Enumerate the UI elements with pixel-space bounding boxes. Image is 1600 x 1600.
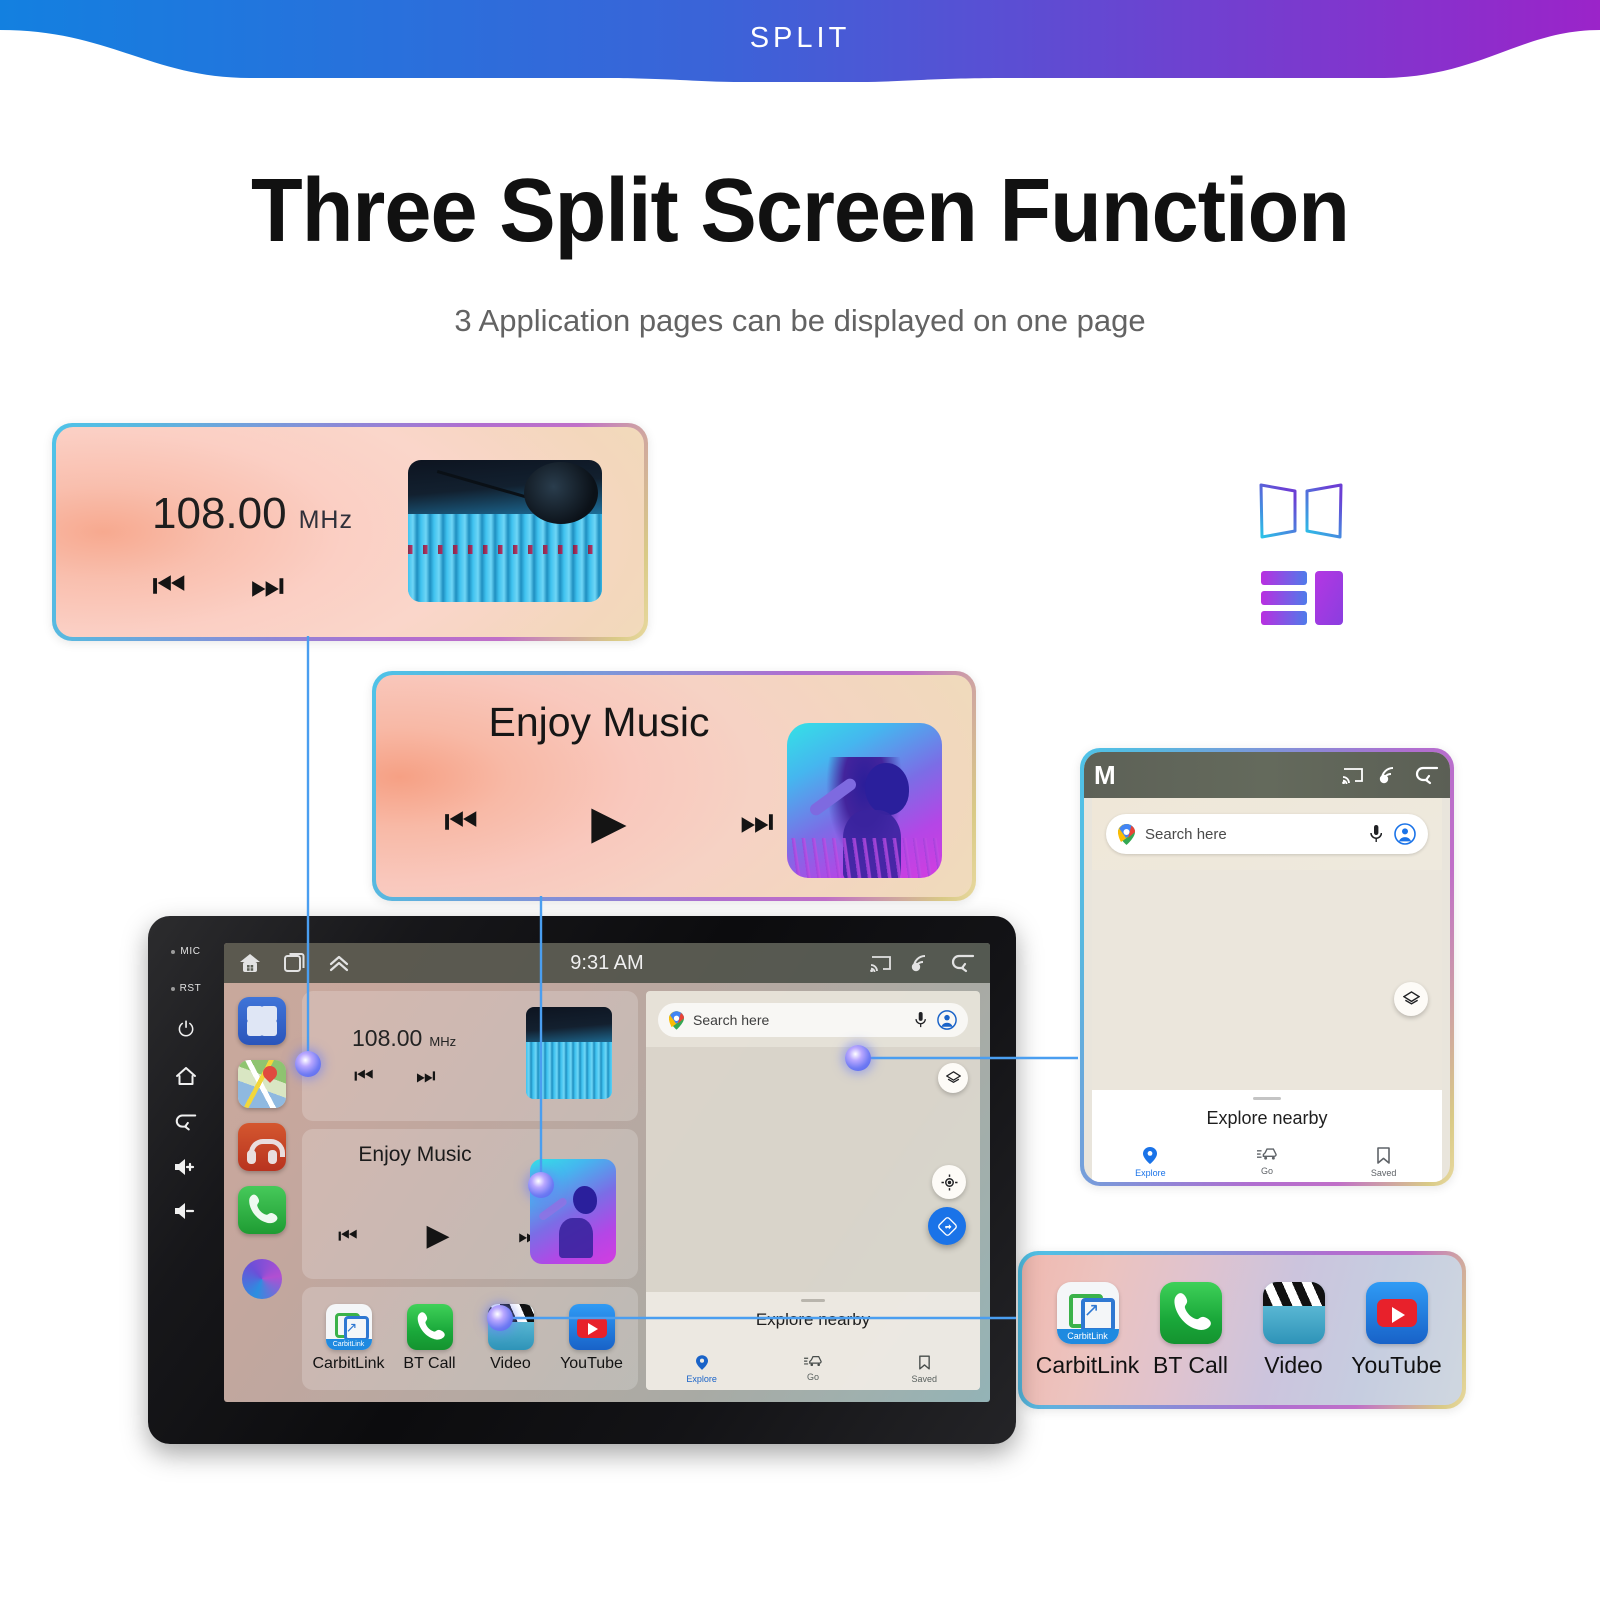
radio-frequency-value: 108.00 bbox=[152, 489, 287, 538]
app-label: Video bbox=[490, 1355, 531, 1373]
bookmark-icon bbox=[919, 1355, 930, 1370]
maps-card-title-fragment: M bbox=[1094, 760, 1116, 791]
radio-transport-controls: ⏮ ⏭ bbox=[152, 567, 284, 605]
car-icon bbox=[804, 1355, 822, 1368]
split-icons-svg bbox=[1255, 475, 1375, 635]
cast-icon[interactable] bbox=[870, 954, 892, 972]
wifi-touch-icon[interactable] bbox=[1378, 765, 1400, 785]
screen-maps-canvas[interactable] bbox=[646, 1047, 980, 1292]
bookmark-icon bbox=[1377, 1147, 1390, 1164]
maps-bottom-tabs: Explore Go Saved bbox=[1092, 1147, 1442, 1178]
chevrons-up-icon[interactable] bbox=[328, 952, 350, 974]
app-label: Video bbox=[1264, 1352, 1322, 1379]
screen-left-column: 108.00MHz ⏮ ⏭ Enjoy Music ⏮ ▶ ⏭ bbox=[302, 991, 638, 1390]
maps-tab-label: Go bbox=[1209, 1166, 1326, 1176]
clapperboard-icon bbox=[1263, 1282, 1325, 1344]
screen-music-panel[interactable]: Enjoy Music ⏮ ▶ ⏭ bbox=[302, 1129, 638, 1279]
app-bt-call[interactable]: BT Call bbox=[1145, 1282, 1237, 1379]
play-icon[interactable]: ▶ bbox=[591, 803, 626, 841]
maps-tab-go[interactable]: Go bbox=[1209, 1147, 1326, 1178]
account-avatar-icon[interactable] bbox=[1394, 823, 1416, 845]
banner-label: SPLIT bbox=[0, 22, 1600, 55]
screen-explore-nearby-title: Explore nearby bbox=[646, 1310, 980, 1330]
volume-up-icon[interactable] bbox=[173, 1158, 199, 1176]
screen-radio-unit: MHz bbox=[429, 1034, 456, 1049]
apps-callout-card: ↗ CarbitLink CarbitLink BT Call Video Yo… bbox=[1018, 1251, 1466, 1409]
maps-tab-explore[interactable]: Explore bbox=[646, 1355, 757, 1384]
pin-icon bbox=[1143, 1147, 1157, 1164]
screen-maps-search-placeholder: Search here bbox=[693, 1012, 769, 1028]
start-navigation-button[interactable] bbox=[928, 1207, 966, 1245]
next-track-icon[interactable]: ⏭ bbox=[416, 1065, 436, 1087]
screen-radio-value: 108.00 bbox=[352, 1025, 422, 1051]
radio-callout-card: 108.00MHz ⏮ ⏭ bbox=[52, 423, 648, 641]
app-carbitlink[interactable]: ↗ CarbitLink CarbitLink bbox=[314, 1304, 384, 1373]
home-icon[interactable] bbox=[238, 952, 262, 974]
car-head-unit: MIC RST ⏻ 9:31 AM bbox=[148, 916, 1016, 1444]
account-avatar-icon[interactable] bbox=[937, 1010, 957, 1030]
youtube-icon bbox=[1366, 1282, 1428, 1344]
screen-radio-panel[interactable]: 108.00MHz ⏮ ⏭ bbox=[302, 991, 638, 1121]
carbitlink-badge: CarbitLink bbox=[326, 1339, 372, 1350]
back-icon[interactable] bbox=[1414, 765, 1440, 785]
maps-tab-label: Saved bbox=[1325, 1168, 1442, 1178]
my-location-button[interactable] bbox=[932, 1165, 966, 1199]
sheet-grip[interactable] bbox=[801, 1299, 825, 1302]
android-status-bar: 9:31 AM bbox=[224, 943, 990, 983]
power-icon[interactable]: ⏻ bbox=[178, 1020, 194, 1040]
two-page-split-icon bbox=[1261, 485, 1341, 537]
next-track-icon[interactable]: ⏭ bbox=[740, 803, 774, 841]
apps-grid-icon[interactable] bbox=[238, 997, 286, 1045]
microphone-icon[interactable] bbox=[915, 1012, 926, 1028]
carbitlink-icon: ↗ CarbitLink bbox=[326, 1304, 372, 1350]
screen-maps-search-bar[interactable]: Search here bbox=[658, 1003, 968, 1037]
app-carbitlink[interactable]: ↗ CarbitLink CarbitLink bbox=[1042, 1282, 1134, 1379]
radio-frequency-unit: MHz bbox=[299, 506, 353, 534]
music-transport-controls: ⏮ ▶ ⏭ bbox=[444, 803, 774, 841]
pin-icon bbox=[696, 1355, 708, 1370]
maps-search-bar[interactable]: Search here bbox=[1106, 814, 1428, 854]
assistant-ring-icon[interactable] bbox=[242, 1259, 282, 1299]
handset-glyph bbox=[407, 1304, 453, 1350]
phone-icon[interactable] bbox=[238, 1186, 286, 1234]
home-icon[interactable] bbox=[175, 1066, 197, 1086]
app-label: BT Call bbox=[1153, 1352, 1228, 1379]
recents-icon[interactable] bbox=[284, 952, 306, 974]
microphone-icon[interactable] bbox=[1370, 825, 1382, 843]
callout-dot-maps bbox=[845, 1045, 871, 1071]
top-banner: SPLIT bbox=[0, 0, 1600, 82]
play-icon[interactable]: ▶ bbox=[426, 1221, 449, 1251]
navigation-arrow-icon bbox=[938, 1217, 957, 1236]
handset-glyph bbox=[238, 1186, 286, 1234]
app-label: CarbitLink bbox=[1036, 1352, 1140, 1379]
app-youtube[interactable]: YouTube bbox=[1351, 1282, 1443, 1379]
callout-dot-music bbox=[528, 1172, 554, 1198]
cast-icon[interactable] bbox=[1342, 766, 1364, 784]
music-icon[interactable] bbox=[238, 1123, 286, 1171]
layers-icon bbox=[946, 1071, 961, 1086]
screen-maps-bottom-sheet: Explore nearby Explore Go Saved bbox=[646, 1292, 980, 1390]
prev-track-icon[interactable]: ⏮ bbox=[354, 1065, 374, 1087]
app-youtube[interactable]: YouTube bbox=[557, 1304, 627, 1373]
callout-dot-radio bbox=[295, 1051, 321, 1077]
app-label: BT Call bbox=[403, 1355, 455, 1373]
maps-icon[interactable] bbox=[238, 1060, 286, 1108]
maps-tab-saved[interactable]: Saved bbox=[869, 1355, 980, 1384]
music-artwork bbox=[787, 723, 942, 878]
callout-dot-apps bbox=[487, 1305, 513, 1331]
carbitlink-icon: ↗ CarbitLink bbox=[1057, 1282, 1119, 1344]
music-callout-card: Enjoy Music ⏮ ▶ ⏭ bbox=[372, 671, 976, 901]
next-track-icon[interactable]: ⏭ bbox=[250, 567, 284, 605]
app-bt-call[interactable]: BT Call bbox=[395, 1304, 465, 1373]
prev-track-icon[interactable]: ⏮ bbox=[444, 803, 478, 841]
maps-tab-label: Go bbox=[757, 1372, 868, 1382]
app-label: CarbitLink bbox=[312, 1355, 384, 1373]
maps-tab-saved[interactable]: Saved bbox=[1325, 1147, 1442, 1178]
maps-tab-explore[interactable]: Explore bbox=[1092, 1147, 1209, 1178]
map-layers-button[interactable] bbox=[1394, 982, 1428, 1016]
maps-bottom-sheet: Explore nearby Explore Go Saved bbox=[1092, 1090, 1442, 1182]
maps-tab-go[interactable]: Go bbox=[757, 1355, 868, 1384]
map-layers-button[interactable] bbox=[938, 1063, 968, 1093]
phone-icon bbox=[407, 1304, 453, 1350]
screen-maps-bottom-tabs: Explore Go Saved bbox=[646, 1355, 980, 1384]
prev-track-icon[interactable]: ⏮ bbox=[152, 567, 186, 605]
maps-canvas[interactable] bbox=[1092, 870, 1442, 1090]
explore-nearby-title: Explore nearby bbox=[1092, 1108, 1442, 1129]
radio-frequency-row: 108.00MHz bbox=[152, 489, 353, 539]
back-icon[interactable] bbox=[950, 953, 976, 973]
maps-tab-label: Explore bbox=[646, 1374, 757, 1384]
layers-icon bbox=[1403, 991, 1420, 1008]
phone-icon bbox=[1160, 1282, 1222, 1344]
screen-radio-frequency: 108.00MHz bbox=[352, 1025, 456, 1052]
volume-down-icon[interactable] bbox=[173, 1202, 199, 1220]
wifi-touch-icon[interactable] bbox=[910, 953, 932, 973]
page-subtitle: 3 Application pages can be displayed on … bbox=[0, 303, 1600, 339]
app-video[interactable]: Video bbox=[1248, 1282, 1340, 1379]
prev-track-icon[interactable]: ⏮ bbox=[338, 1225, 358, 1247]
locate-icon bbox=[941, 1174, 958, 1191]
google-maps-pin-icon bbox=[1118, 824, 1135, 845]
three-pane-layout-icon bbox=[1261, 571, 1343, 625]
back-icon[interactable] bbox=[174, 1112, 198, 1132]
maps-card-topbar: M bbox=[1084, 752, 1450, 798]
sheet-grip[interactable] bbox=[1253, 1097, 1281, 1100]
maps-tab-label: Saved bbox=[869, 1374, 980, 1384]
youtube-icon bbox=[569, 1304, 615, 1350]
split-mode-icons bbox=[1255, 475, 1375, 635]
screen-maps-panel[interactable]: Search here bbox=[646, 991, 980, 1390]
screen-radio-artwork bbox=[526, 1007, 612, 1099]
head-unit-screen: 9:31 AM bbox=[224, 943, 990, 1402]
screen-apps-panel: ↗ CarbitLink CarbitLink BT Call Video bbox=[302, 1287, 638, 1390]
hardkey-rst[interactable]: RST bbox=[171, 983, 202, 994]
car-icon bbox=[1257, 1147, 1277, 1162]
handset-glyph bbox=[1160, 1282, 1222, 1344]
maps-search-placeholder: Search here bbox=[1145, 826, 1227, 843]
hardkey-mic[interactable]: MIC bbox=[171, 946, 200, 957]
app-label: YouTube bbox=[560, 1355, 623, 1373]
screen-dock bbox=[230, 991, 294, 1390]
carbitlink-badge: CarbitLink bbox=[1057, 1329, 1119, 1344]
head-unit-hard-keys: MIC RST ⏻ bbox=[156, 926, 216, 1434]
maps-callout-card: M Search here bbox=[1080, 748, 1454, 1186]
google-maps-pin-icon bbox=[669, 1011, 684, 1030]
app-label: YouTube bbox=[1351, 1352, 1441, 1379]
hardkey-label: RST bbox=[180, 983, 202, 994]
radio-artwork bbox=[408, 460, 602, 602]
maps-tab-label: Explore bbox=[1092, 1168, 1209, 1178]
page-title: Three Split Screen Function bbox=[48, 160, 1552, 263]
hardkey-label: MIC bbox=[180, 946, 200, 957]
